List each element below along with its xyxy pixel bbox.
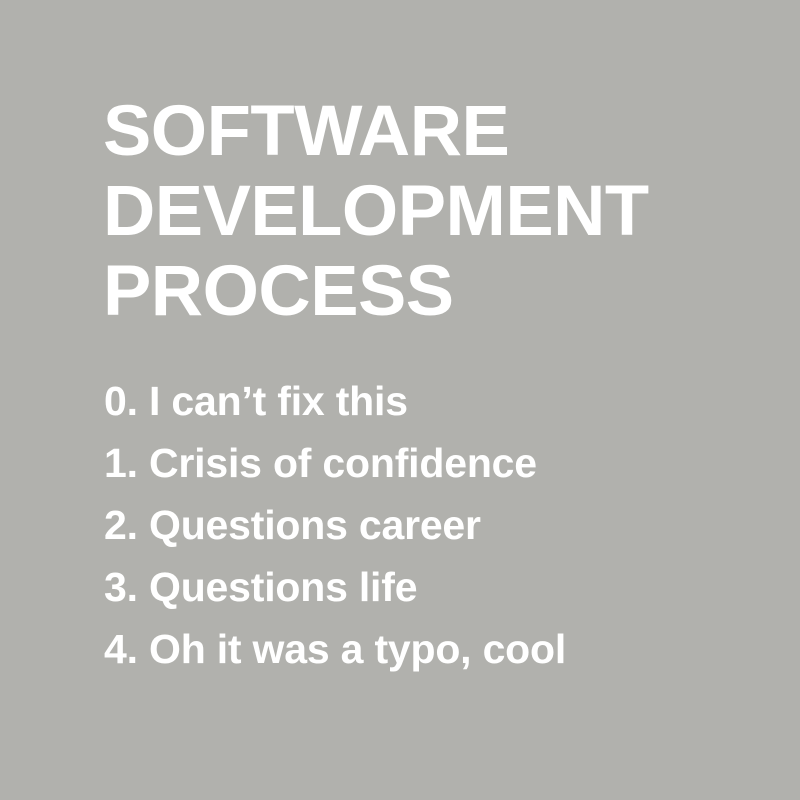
title-line-1: SOFTWARE	[103, 92, 735, 172]
title-line-3: PROCESS	[103, 252, 735, 332]
list-item-label: Crisis of confidence	[149, 440, 537, 486]
list-item-number: 4.	[104, 626, 149, 672]
list-item: 4. Oh it was a typo, cool	[104, 618, 744, 680]
process-step-list: 0. I can’t fix this 1. Crisis of confide…	[104, 370, 744, 680]
poster-canvas: SOFTWARE DEVELOPMENT PROCESS 0. I can’t …	[0, 0, 800, 800]
list-item-label: Questions life	[149, 564, 417, 610]
title-line-2: DEVELOPMENT	[103, 172, 735, 252]
list-item: 2. Questions career	[104, 494, 744, 556]
list-item-number: 3.	[104, 564, 149, 610]
list-item-number: 0.	[104, 378, 149, 424]
list-item-number: 1.	[104, 440, 149, 486]
list-item-label: Oh it was a typo, cool	[149, 626, 566, 672]
page-title: SOFTWARE DEVELOPMENT PROCESS	[103, 92, 723, 332]
list-item-label: I can’t fix this	[149, 378, 408, 424]
list-item: 3. Questions life	[104, 556, 744, 618]
list-item: 0. I can’t fix this	[104, 370, 744, 432]
list-item-label: Questions career	[149, 502, 481, 548]
list-item: 1. Crisis of confidence	[104, 432, 744, 494]
list-item-number: 2.	[104, 502, 149, 548]
